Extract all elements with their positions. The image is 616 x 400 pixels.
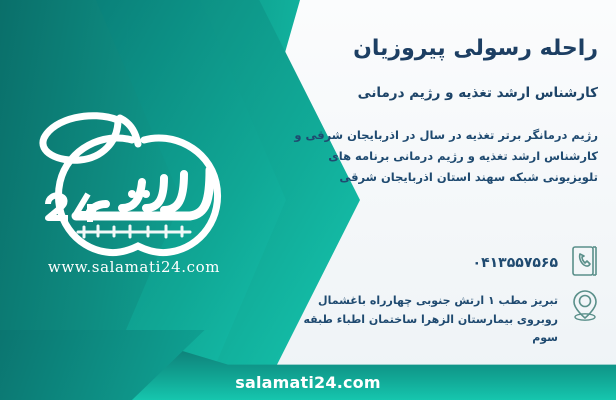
contact-row-address: تبریز مطب ۱ ارتش جنوبی چهارراه باغشمال ر…	[284, 288, 602, 348]
phone-number-text: ۰۴۱۳۵۵۷۵۶۵	[284, 244, 558, 276]
person-description: رژیم درمانگر برتر تغذیه در سال در اذربای…	[288, 125, 598, 189]
brand-logo: www.salamati24.com	[14, 108, 254, 278]
logo-url-text: www.salamati24.com	[14, 258, 254, 276]
contact-list: ۰۴۱۳۵۵۷۵۶۵ تبریز مطب ۱ ارتش جنوبی چهاررا…	[284, 244, 602, 358]
phone-book-icon	[568, 244, 602, 278]
content-block: راحله رسولی پیروزیان کارشناس ارشد تغذیه …	[288, 34, 598, 188]
brand-wordmark	[76, 170, 210, 216]
location-pin-icon	[568, 288, 602, 322]
apple-logo-icon	[14, 108, 254, 258]
person-name-title: راحله رسولی پیروزیان	[288, 34, 598, 64]
person-role-subtitle: کارشناس ارشد تغذیه و رژیم درمانی	[288, 84, 598, 103]
footer-url-text: salamati24.com	[0, 373, 616, 392]
business-card: www.salamati24.com راحله رسولی پیروزیان …	[0, 0, 616, 400]
contact-row-phone: ۰۴۱۳۵۵۷۵۶۵	[284, 244, 602, 278]
brand-tagline	[78, 226, 190, 237]
address-text: تبریز مطب ۱ ارتش جنوبی چهارراه باغشمال ر…	[284, 288, 558, 348]
